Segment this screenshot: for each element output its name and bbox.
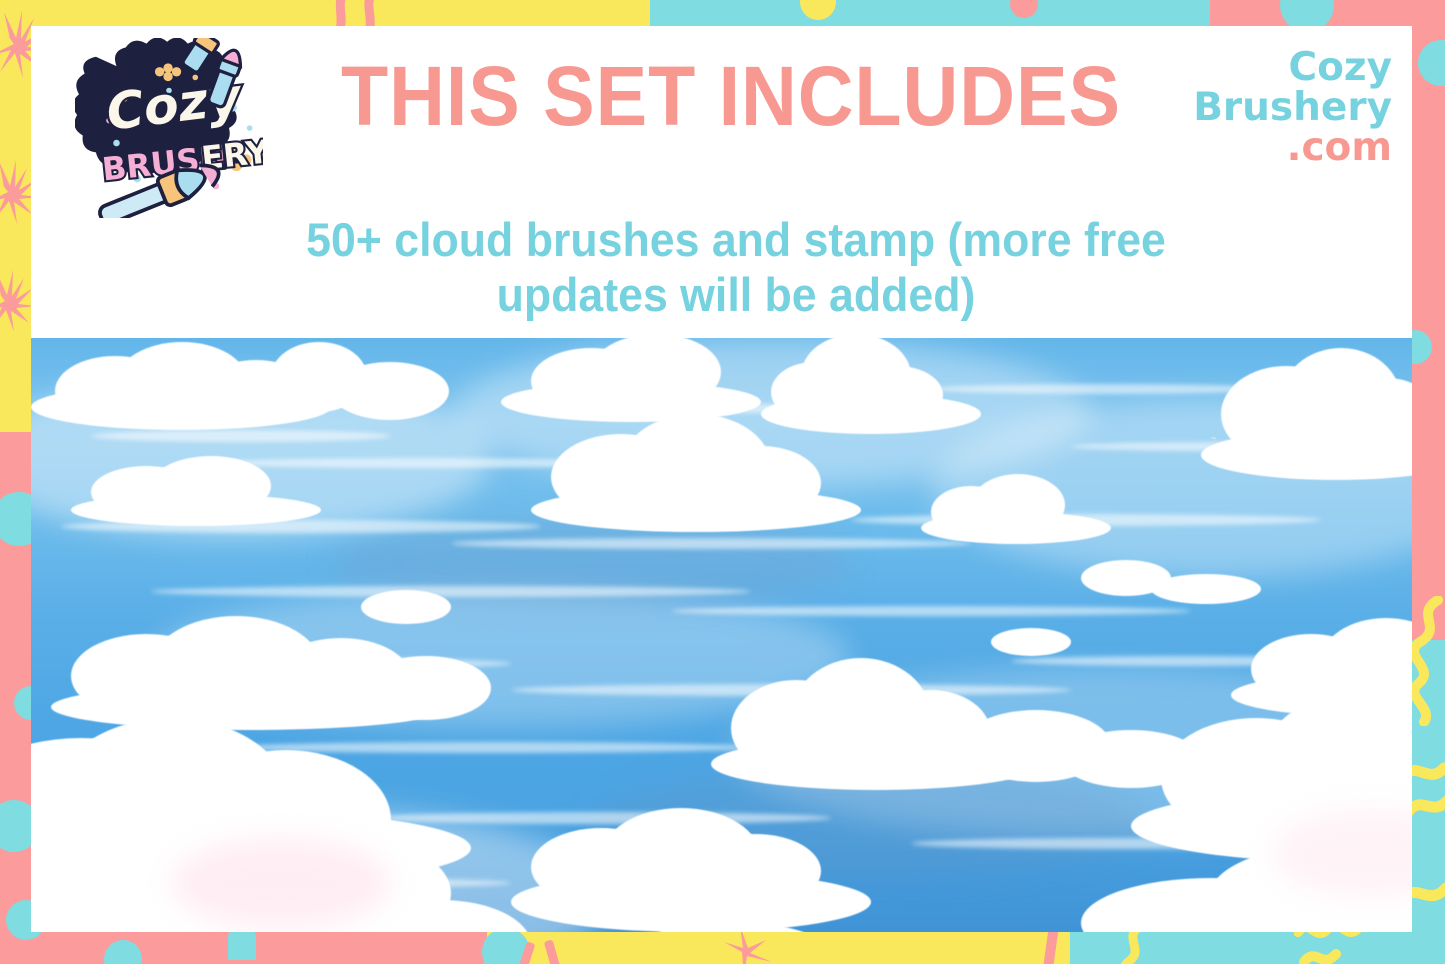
border-band-bottom-yellow [487,932,1070,964]
cloud-artwork-layer: ~ ~ ~ [31,338,1412,932]
subtitle-line-2: updates will be added) [218,267,1254,322]
site-url-tld: .com [1162,128,1392,168]
subtitle: 50+ cloud brushes and stamp (more free u… [218,212,1254,323]
card-header: Cozy BRUSH ERY [31,26,1412,338]
border-band-right-pink [1412,0,1445,640]
subtitle-line-1: 50+ cloud brushes and stamp (more free [218,212,1254,267]
bird-icon: ~ [885,350,890,359]
bird-icon: ~ [1211,434,1216,443]
brand-logo: Cozy BRUSH ERY [75,38,263,218]
cloud-artwork-preview: ~ ~ ~ [31,338,1412,932]
border-corner-top-right [1412,0,1445,30]
page-title: THIS SET INCLUDES [317,54,1145,138]
bird-icon: ~ [1237,446,1242,455]
content-card: Cozy BRUSH ERY [31,26,1412,932]
site-url: Cozy Brushery .com [1162,48,1392,168]
site-url-line2: Brushery [1162,88,1392,128]
site-url-line1: Cozy [1162,48,1392,88]
cozy-brushery-logo-icon: Cozy BRUSH ERY [75,38,263,218]
poster-canvas: Cozy BRUSH ERY [0,0,1445,964]
